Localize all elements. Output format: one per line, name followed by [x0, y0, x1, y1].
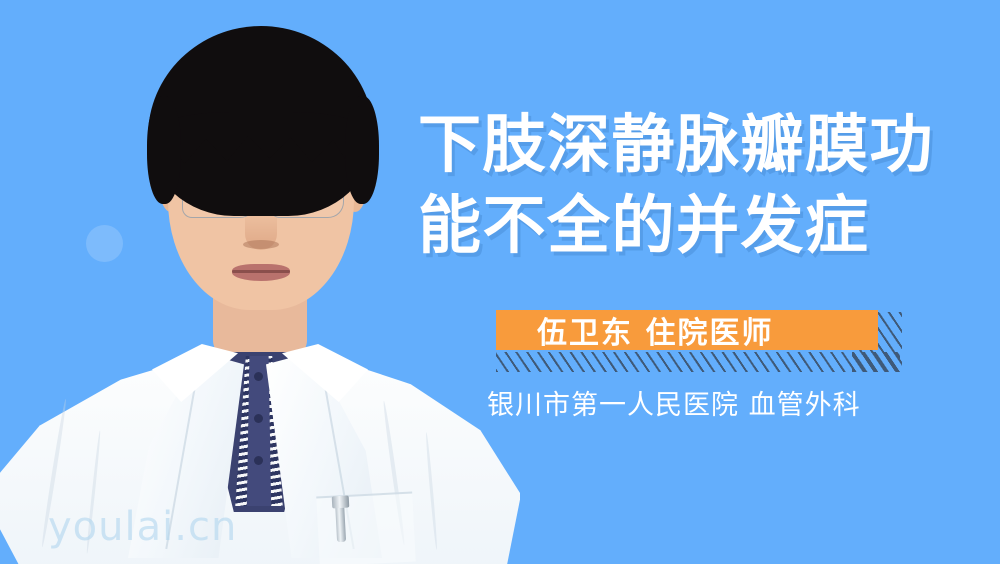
lip-line	[232, 270, 290, 273]
hair-side-left	[147, 96, 181, 204]
presenter-badge: 伍卫东 住院医师	[496, 310, 906, 364]
shirt-button	[254, 456, 263, 465]
shirt-button	[254, 414, 263, 423]
title-line-2: 能不全的并发症	[418, 185, 918, 266]
hospital-department-label: 银川市第一人民医院 血管外科	[487, 383, 861, 422]
badge-stripes-bottom	[496, 352, 900, 372]
shirt-button	[254, 372, 263, 381]
page-title: 下肢深静脉瓣膜功 能不全的并发症	[418, 104, 918, 266]
presenter-name-title: 伍卫东 住院医师	[496, 308, 773, 352]
badge-bar: 伍卫东 住院医师	[496, 310, 878, 350]
mouth	[232, 264, 290, 281]
thumbnail-canvas: youlai.cn 下肢深静脉瓣膜功 能不全的并发症 伍卫东 住院医师 银川市第…	[0, 0, 1000, 564]
doctor-portrait	[0, 0, 520, 564]
title-line-1: 下肢深静脉瓣膜功	[418, 104, 918, 185]
hair-side-right	[345, 96, 379, 204]
nostrils	[243, 240, 279, 249]
pen-head	[332, 496, 350, 509]
